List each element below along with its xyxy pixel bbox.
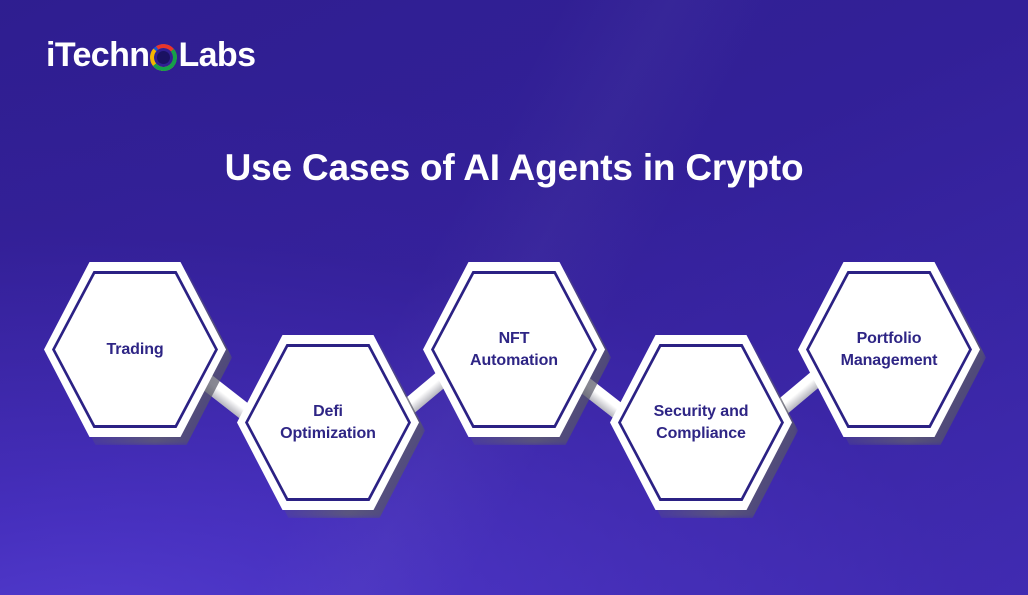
hex-node-security-compliance[interactable]: Security and Compliance: [610, 335, 792, 510]
hex-node-trading[interactable]: Trading: [44, 262, 226, 437]
hex-node-nft-automation[interactable]: NFT Automation: [423, 262, 605, 437]
hex-node-portfolio-management[interactable]: Portfolio Management: [798, 262, 980, 437]
hex-label-portfolio-management: Portfolio Management: [835, 328, 944, 371]
hexagon-chain-diagram: TradingDefi OptimizationNFT AutomationSe…: [0, 0, 1028, 595]
hex-label-nft-automation: NFT Automation: [464, 328, 564, 371]
hex-label-trading: Trading: [100, 339, 169, 360]
hex-node-defi-optimization[interactable]: Defi Optimization: [237, 335, 419, 510]
hex-label-security-compliance: Security and Compliance: [648, 401, 755, 444]
hex-label-defi-optimization: Defi Optimization: [274, 401, 382, 444]
